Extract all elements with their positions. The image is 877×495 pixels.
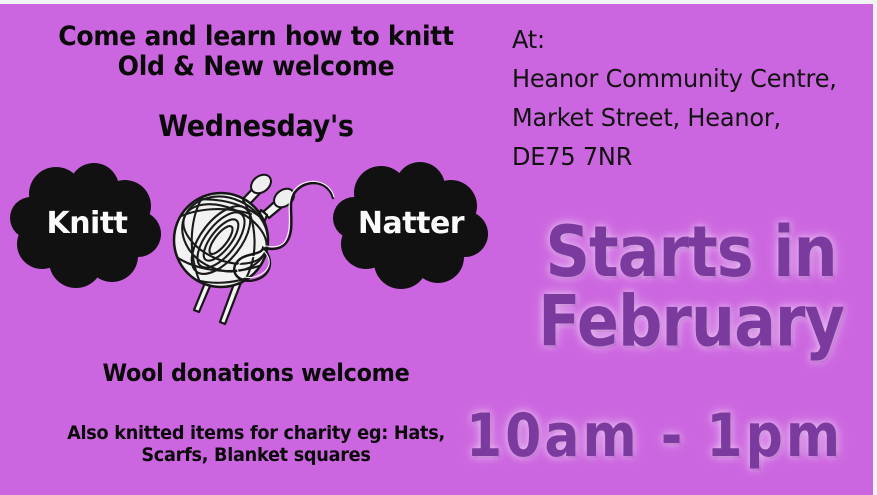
- venue-address: At: Heanor Community Centre, Market Stre…: [512, 20, 860, 176]
- knitt-cloud-badge: Knitt: [12, 166, 162, 282]
- weekday-text: Wednesday's: [51, 110, 460, 142]
- knitt-cloud-label: Knitt: [12, 206, 162, 241]
- starts-in-february-text: Starts in February: [505, 218, 877, 357]
- natter-cloud-label: Natter: [333, 206, 489, 241]
- natter-cloud-badge: Natter: [333, 166, 489, 282]
- wool-donations-text: Wool donations welcome: [51, 360, 460, 387]
- poster-headline: Come and learn how to knitt Old & New we…: [51, 22, 460, 82]
- knitt-and-natter-poster: Come and learn how to knitt Old & New we…: [0, 0, 877, 495]
- charity-items-text: Also knitted items for charity eg: Hats,…: [51, 422, 460, 467]
- session-times-text: 10am - 1pm: [432, 408, 877, 466]
- yarn-ball-with-knitting-needles-icon: [163, 152, 353, 337]
